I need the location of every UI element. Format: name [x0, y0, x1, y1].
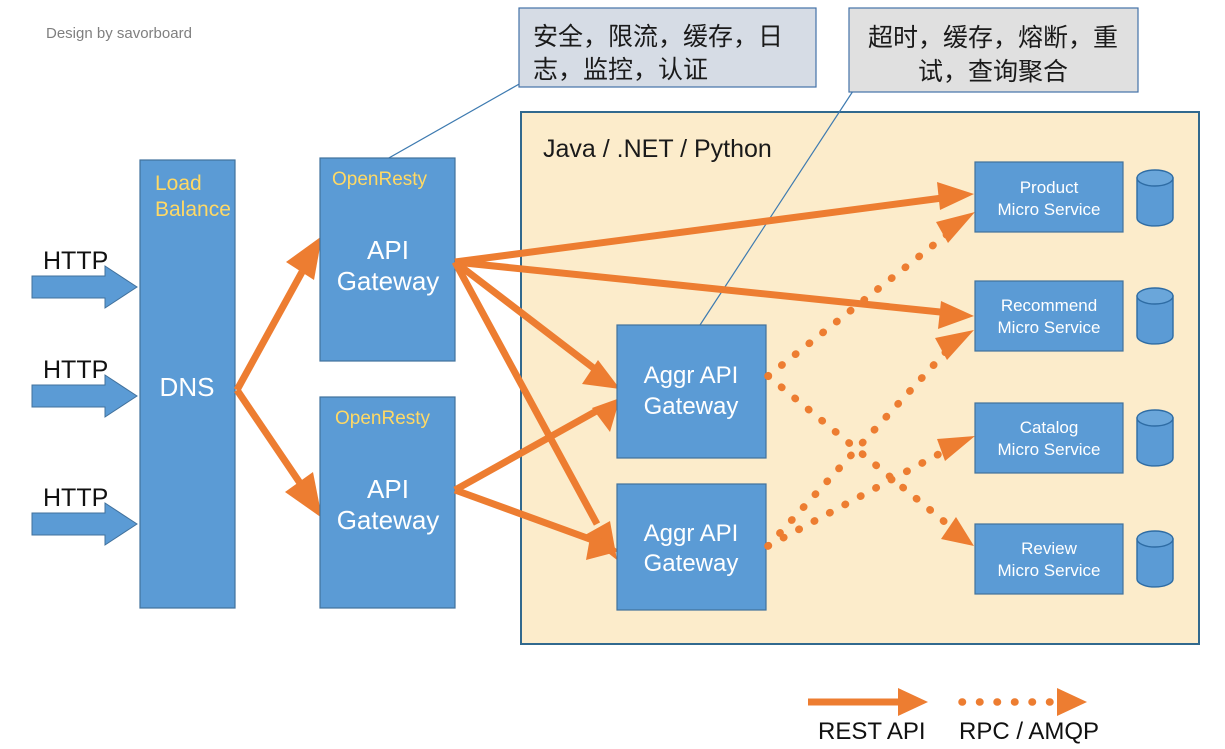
platform-title: Java / .NET / Python [543, 135, 772, 163]
api-gateway-2[interactable]: OpenResty API Gateway [320, 397, 455, 608]
aggr-api-gateway-2-box[interactable] [617, 484, 766, 610]
micro-service-review-box[interactable] [975, 524, 1123, 594]
http-request-1: HTTP [32, 247, 137, 308]
api-gateway-1-badge: OpenResty [332, 169, 428, 190]
callout-gateway-concerns: 安全，限流，缓存，日 志，监控，认证 [519, 8, 816, 87]
database-icon-product [1137, 170, 1173, 226]
micro-service-recommend-line-2: Micro Service [998, 318, 1101, 337]
micro-service-review-line-2: Micro Service [998, 561, 1101, 580]
api-gateway-2-badge: OpenResty [335, 408, 431, 429]
micro-service-product-box[interactable] [975, 162, 1123, 232]
micro-service-catalog[interactable]: Catalog Micro Service [975, 403, 1173, 473]
legend-rest-api-arrow-icon [898, 688, 928, 716]
micro-service-review-line-1: Review [1021, 539, 1077, 558]
rest-edge-dns-to-gateway-2 [237, 390, 322, 518]
api-gateway-1[interactable]: OpenResty API Gateway [320, 158, 455, 361]
load-balancer-label-line-2: Balance [155, 198, 231, 221]
database-icon-recommend [1137, 288, 1173, 344]
http-request-2: HTTP [32, 356, 137, 417]
legend-rest-api: REST API [808, 688, 928, 745]
api-gateway-1-line-1: API [367, 235, 409, 265]
database-icon-review [1137, 531, 1173, 587]
micro-service-recommend-box[interactable] [975, 281, 1123, 351]
architecture-diagram: Design by savorboard Java / .NET / Pytho… [0, 0, 1225, 749]
aggr-api-gateway-2-line-1: Aggr API [644, 520, 739, 547]
micro-service-catalog-line-2: Micro Service [998, 440, 1101, 459]
aggr-api-gateway-1-line-1: Aggr API [644, 362, 739, 389]
load-balancer-node[interactable]: Load Balance DNS [140, 160, 235, 608]
callout-aggregation-concerns: 超时，缓存，熔断，重 试，查询聚合 [849, 8, 1138, 92]
http-label-2: HTTP [43, 356, 108, 384]
micro-service-product-line-1: Product [1020, 178, 1079, 197]
http-label-3: HTTP [43, 484, 108, 512]
micro-service-product[interactable]: Product Micro Service [975, 162, 1173, 232]
aggr-api-gateway-1-line-2: Gateway [644, 393, 739, 420]
leader-line-gateway [380, 83, 521, 163]
legend-rest-api-label: REST API [818, 718, 926, 745]
http-request-3: HTTP [32, 484, 137, 545]
credit-text: Design by savorboard [46, 25, 192, 42]
callout-aggregation-line-1: 超时，缓存，熔断，重 [868, 23, 1118, 52]
micro-service-catalog-box[interactable] [975, 403, 1123, 473]
micro-service-product-line-2: Micro Service [998, 200, 1101, 219]
legend-rpc-amqp-arrow-icon [1057, 688, 1087, 716]
api-gateway-2-line-1: API [367, 474, 409, 504]
legend-rpc-amqp-label: RPC / AMQP [959, 718, 1099, 745]
api-gateway-1-line-2: Gateway [337, 266, 440, 296]
load-balancer-label-line-1: Load [155, 172, 202, 195]
api-gateway-2-line-2: Gateway [337, 505, 440, 535]
micro-service-catalog-line-1: Catalog [1020, 418, 1079, 437]
dns-label: DNS [160, 372, 215, 402]
aggr-api-gateway-2[interactable]: Aggr API Gateway [617, 484, 766, 610]
rest-edge-dns-to-gateway-1 [237, 236, 322, 390]
callout-gateway-line-2: 志，监控，认证 [533, 55, 708, 84]
micro-service-review[interactable]: Review Micro Service [975, 524, 1173, 594]
http-label-1: HTTP [43, 247, 108, 275]
aggr-api-gateway-2-line-2: Gateway [644, 550, 739, 577]
aggr-api-gateway-1-box[interactable] [617, 325, 766, 458]
database-icon-catalog [1137, 410, 1173, 466]
micro-service-recommend[interactable]: Recommend Micro Service [975, 281, 1173, 351]
legend-rpc-amqp: RPC / AMQP [959, 688, 1099, 745]
callout-gateway-line-1: 安全，限流，缓存，日 [533, 22, 783, 51]
callout-aggregation-line-2: 试，查询聚合 [918, 57, 1068, 86]
arrow-head-dns-gateway-1 [286, 236, 322, 280]
arrow-head-dns-gateway-2 [285, 472, 322, 518]
micro-service-recommend-line-1: Recommend [1001, 296, 1097, 315]
aggr-api-gateway-1[interactable]: Aggr API Gateway [617, 325, 766, 458]
